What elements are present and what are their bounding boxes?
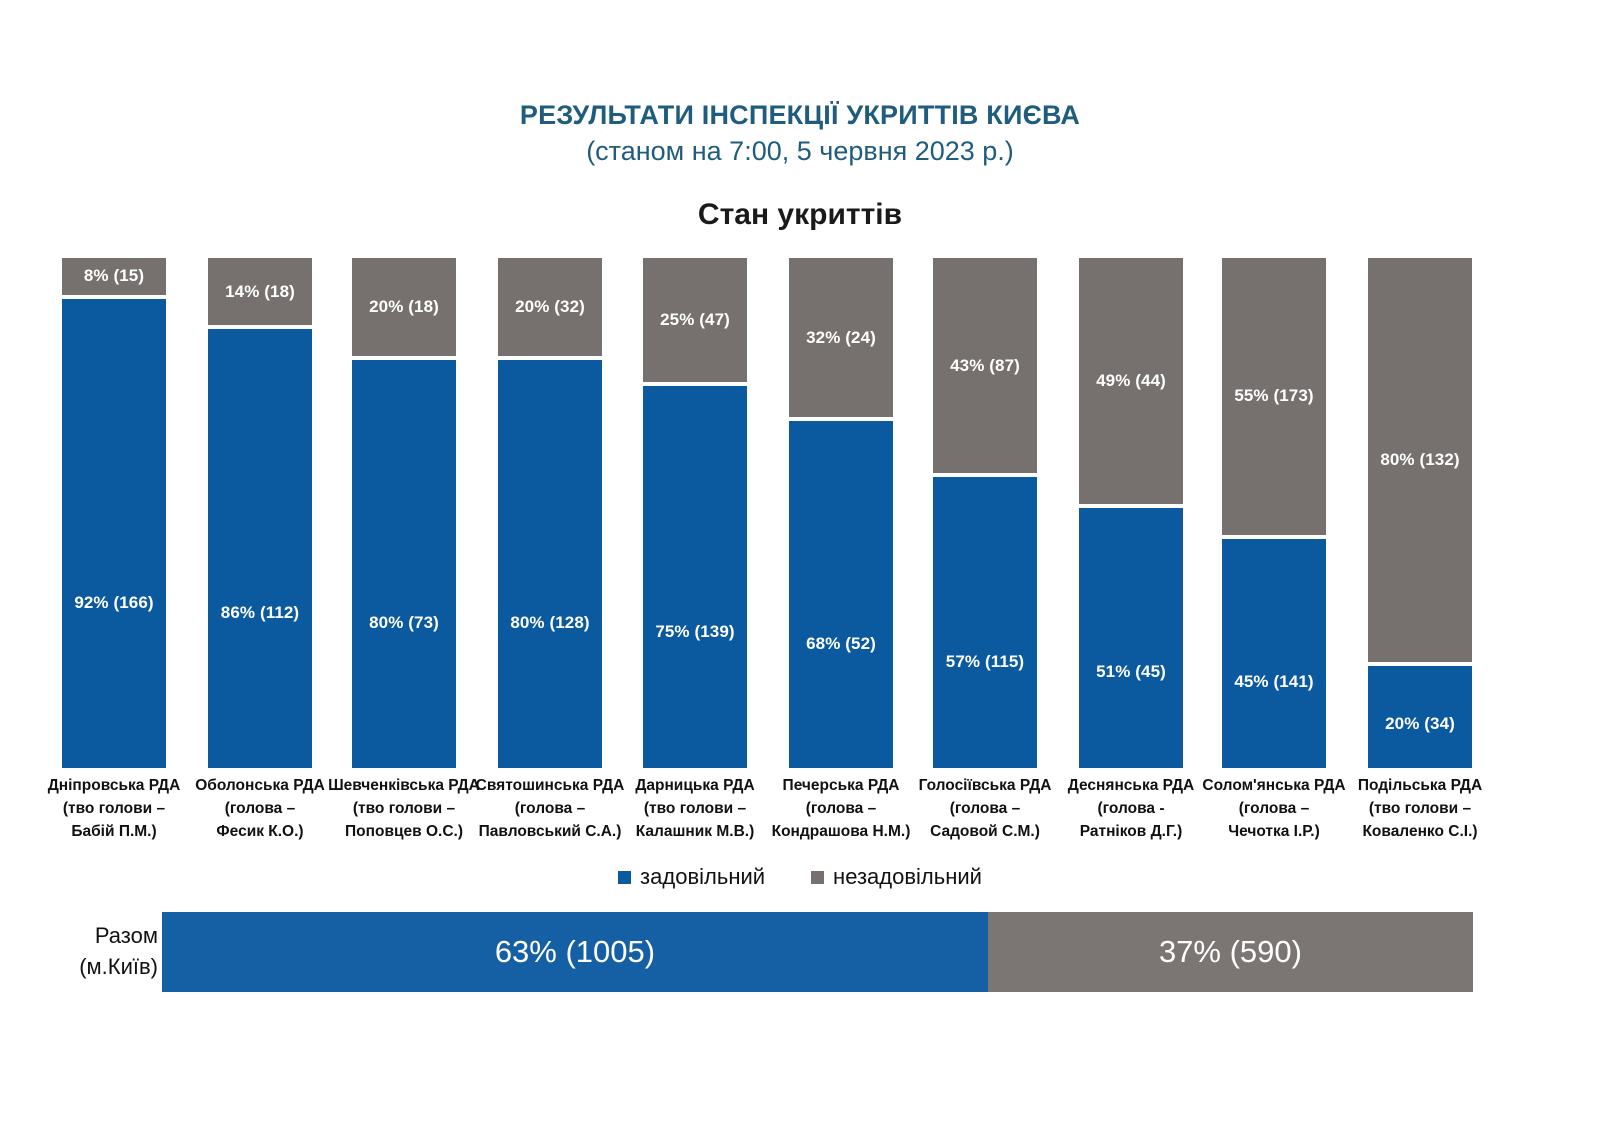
total-stacked-bar: 63% (1005)37% (590) xyxy=(162,912,1473,992)
bar-segment-unsatisfactory[interactable]: 20% (18) xyxy=(352,258,456,356)
bar-segment-label: 20% (32) xyxy=(515,297,585,317)
bar-segment-label: 32% (24) xyxy=(806,328,876,348)
chart-legend: задовільнийнезадовільний xyxy=(0,864,1600,890)
page-subtitle: (станом на 7:00, 5 червня 2023 р.) xyxy=(0,132,1600,170)
bar-segment-satisfactory[interactable]: 57% (115) xyxy=(933,477,1037,768)
total-segment-label: 63% (1005) xyxy=(495,934,655,970)
bar-column[interactable]: 25% (47)75% (139) xyxy=(643,258,747,768)
legend-label: незадовільний xyxy=(833,864,982,890)
bar-segment-satisfactory[interactable]: 68% (52) xyxy=(789,421,893,768)
bar-segment-unsatisfactory[interactable]: 14% (18) xyxy=(208,258,312,325)
bar-segment-satisfactory[interactable]: 51% (45) xyxy=(1079,508,1183,768)
total-label-line2: (м.Київ) xyxy=(38,951,158,982)
total-label: Разом (м.Київ) xyxy=(38,920,158,982)
bar-segment-satisfactory[interactable]: 80% (73) xyxy=(352,360,456,768)
bar-segment-label: 75% (139) xyxy=(655,622,734,642)
legend-item[interactable]: незадовільний xyxy=(811,864,982,890)
bar-segment-satisfactory[interactable]: 75% (139) xyxy=(643,386,747,769)
bar-segment-unsatisfactory[interactable]: 55% (173) xyxy=(1222,258,1326,535)
bar-segment-label: 80% (73) xyxy=(369,613,439,633)
total-segment-satisfactory[interactable]: 63% (1005) xyxy=(162,912,988,992)
bar-segment-label: 14% (18) xyxy=(225,282,295,302)
chart-title: Стан укриттів xyxy=(0,198,1600,232)
bar-segment-label: 80% (132) xyxy=(1380,450,1459,470)
total-row: Разом (м.Київ) 63% (1005)37% (590) xyxy=(0,906,1600,998)
bar-column[interactable]: 32% (24)68% (52) xyxy=(789,258,893,768)
total-segment-label: 37% (590) xyxy=(1159,934,1302,970)
total-label-line1: Разом xyxy=(38,920,158,951)
legend-swatch-icon xyxy=(618,871,631,884)
legend-item[interactable]: задовільний xyxy=(618,864,765,890)
bar-segment-satisfactory[interactable]: 86% (112) xyxy=(208,329,312,768)
bar-segment-label: 25% (47) xyxy=(660,310,730,330)
bar-segment-label: 43% (87) xyxy=(950,356,1020,376)
bar-column[interactable]: 55% (173)45% (141) xyxy=(1222,258,1326,768)
bar-column[interactable]: 20% (18)80% (73) xyxy=(352,258,456,768)
bar-column[interactable]: 43% (87)57% (115) xyxy=(933,258,1037,768)
bar-segment-satisfactory[interactable]: 45% (141) xyxy=(1222,539,1326,769)
bar-segment-label: 68% (52) xyxy=(806,634,876,654)
x-axis-label-line: (тво голови – xyxy=(1312,797,1528,820)
bar-segment-label: 20% (18) xyxy=(369,297,439,317)
x-axis-label-line: Подільська РДА xyxy=(1312,774,1528,797)
bar-segment-satisfactory[interactable]: 80% (128) xyxy=(498,360,602,768)
bar-segment-label: 20% (34) xyxy=(1385,714,1455,734)
x-axis-label: Подільська РДА(тво голови –Коваленко С.І… xyxy=(1312,774,1528,843)
bar-segment-unsatisfactory[interactable]: 43% (87) xyxy=(933,258,1037,473)
bar-segment-label: 92% (166) xyxy=(74,593,153,613)
bar-segment-label: 8% (15) xyxy=(84,266,144,286)
bar-segment-unsatisfactory[interactable]: 80% (132) xyxy=(1368,258,1472,662)
bar-segment-unsatisfactory[interactable]: 32% (24) xyxy=(789,258,893,417)
x-axis-labels: Дніпровська РДА(тво голови –Бабій П.М.)О… xyxy=(0,774,1600,846)
bar-segment-label: 57% (115) xyxy=(946,652,1024,672)
bar-segment-label: 80% (128) xyxy=(510,613,589,633)
total-segment-unsatisfactory[interactable]: 37% (590) xyxy=(988,912,1473,992)
bar-column[interactable]: 80% (132)20% (34) xyxy=(1368,258,1472,768)
page-title: РЕЗУЛЬТАТИ ІНСПЕКЦІЇ УКРИТТІВ КИЄВА xyxy=(0,98,1600,132)
bar-segment-label: 45% (141) xyxy=(1234,672,1313,692)
bar-segment-satisfactory[interactable]: 92% (166) xyxy=(62,299,166,768)
legend-label: задовільний xyxy=(640,864,765,890)
x-axis-label-line: Коваленко С.І.) xyxy=(1312,820,1528,843)
bar-segment-unsatisfactory[interactable]: 25% (47) xyxy=(643,258,747,382)
bar-segment-label: 86% (112) xyxy=(221,603,299,623)
bar-segment-unsatisfactory[interactable]: 8% (15) xyxy=(62,258,166,295)
bar-segment-satisfactory[interactable]: 20% (34) xyxy=(1368,666,1472,768)
bar-column[interactable]: 8% (15)92% (166) xyxy=(62,258,166,768)
bar-segment-label: 51% (45) xyxy=(1096,662,1166,682)
bar-segment-unsatisfactory[interactable]: 20% (32) xyxy=(498,258,602,356)
bar-column[interactable]: 49% (44)51% (45) xyxy=(1079,258,1183,768)
bar-column[interactable]: 14% (18)86% (112) xyxy=(208,258,312,768)
bar-column[interactable]: 20% (32)80% (128) xyxy=(498,258,602,768)
legend-swatch-icon xyxy=(811,871,824,884)
chart-plot-area: 8% (15)92% (166)14% (18)86% (112)20% (18… xyxy=(0,258,1600,768)
bar-segment-label: 55% (173) xyxy=(1234,386,1313,406)
bar-segment-label: 49% (44) xyxy=(1096,371,1166,391)
header-title-block: РЕЗУЛЬТАТИ ІНСПЕКЦІЇ УКРИТТІВ КИЄВА (ста… xyxy=(0,98,1600,170)
bar-segment-unsatisfactory[interactable]: 49% (44) xyxy=(1079,258,1183,504)
